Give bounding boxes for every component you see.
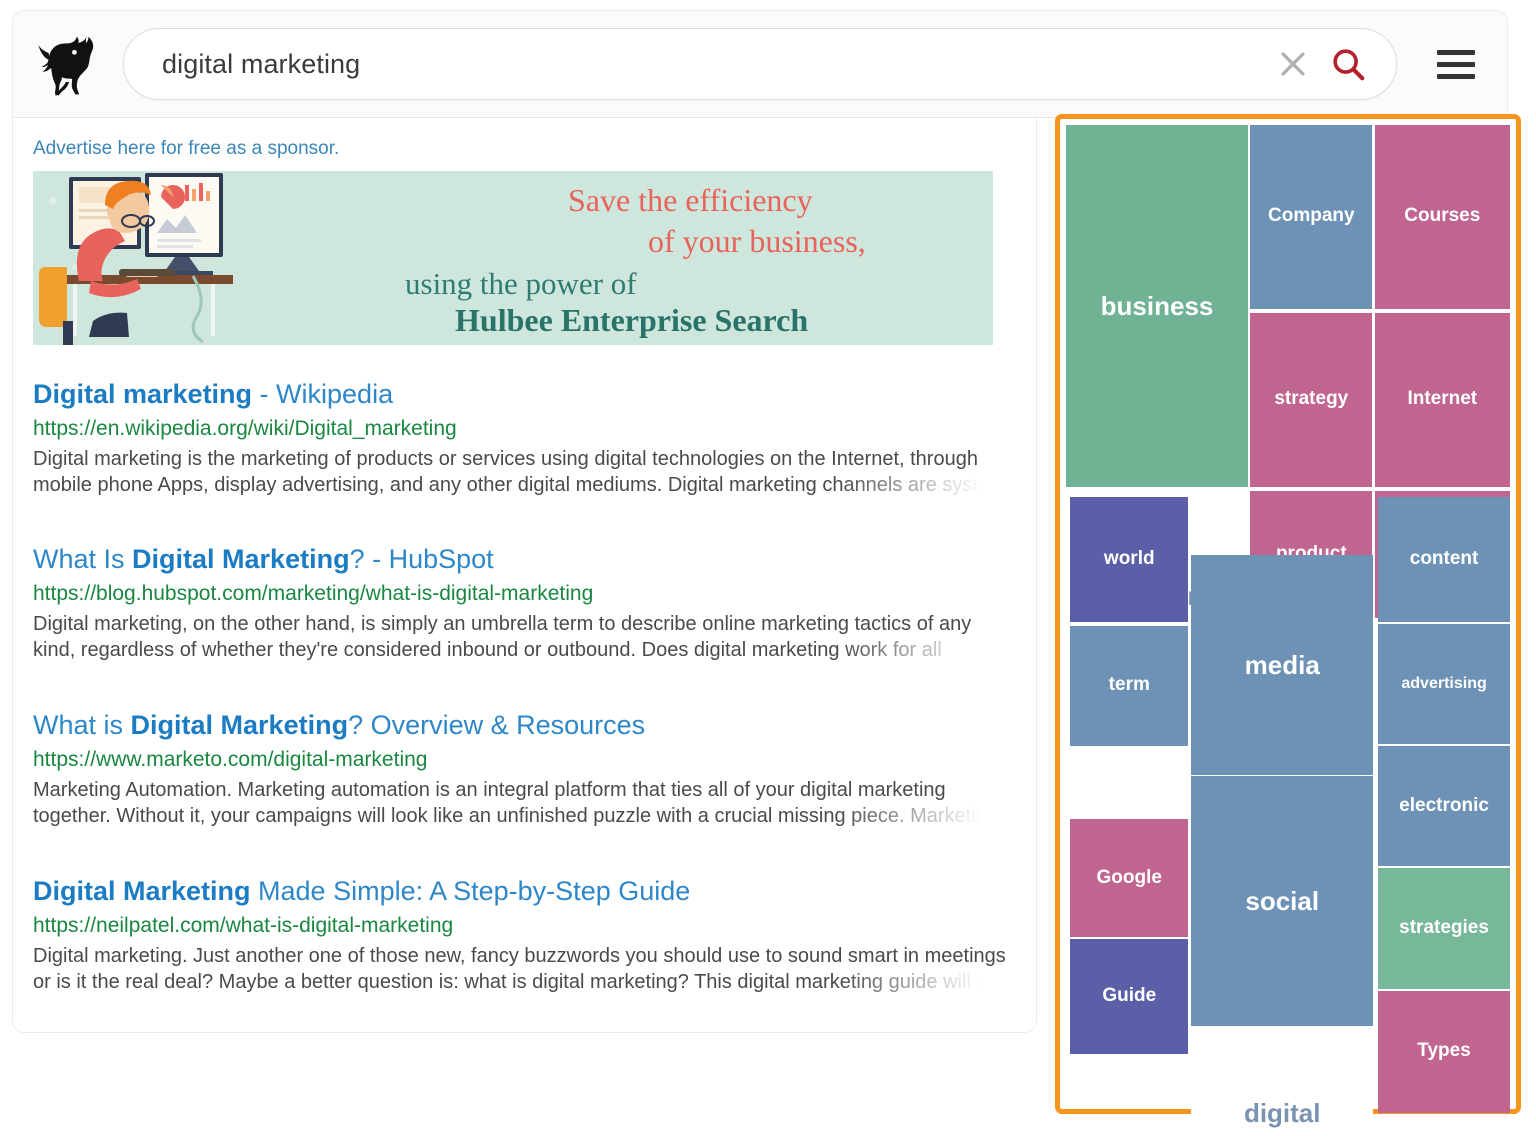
treemap-tile-label: world [1104, 549, 1155, 570]
sponsor-link[interactable]: Advertise here for free as a sponsor. [33, 138, 1036, 160]
menu-bar-1 [1437, 50, 1475, 55]
treemap-tile-label: Types [1417, 1041, 1471, 1062]
treemap-tile-advertising[interactable]: advertising [1378, 624, 1510, 744]
treemap-tile-strategies[interactable]: strategies [1378, 868, 1510, 988]
treemap-tile-label: media [1245, 651, 1320, 680]
treemap-tile-label: Internet [1407, 389, 1477, 410]
treemap-tile-label: Google [1097, 868, 1162, 889]
treemap-tile-label: digital [1244, 1099, 1321, 1128]
ad-line-4: Hulbee Enterprise Search [455, 302, 808, 339]
ad-line-2: of your business, [648, 223, 866, 260]
treemap-tile-guide[interactable]: Guide [1070, 939, 1188, 1054]
treemap-tile-content[interactable]: content [1378, 497, 1510, 622]
result-snippet: Digital marketing. Just another one of t… [33, 943, 1008, 995]
treemap-tile-media[interactable]: media [1191, 555, 1373, 775]
result-title-bold: Digital Marketing [33, 876, 251, 906]
treemap-tile-label: strategies [1399, 918, 1489, 939]
result-title-rest: - Wikipedia [252, 379, 393, 409]
result-url[interactable]: https://neilpatel.com/what-is-digital-ma… [33, 912, 1008, 940]
ad-line-3: using the power of [405, 266, 637, 302]
ad-line-1: Save the efficiency [568, 182, 813, 219]
treemap-tile-label: Company [1268, 206, 1355, 227]
close-icon[interactable] [1270, 41, 1316, 87]
treemap-tile-electronic[interactable]: electronic [1378, 746, 1510, 866]
result-snippet: Digital marketing, on the other hand, is… [33, 611, 1008, 664]
treemap-tile-strategy[interactable]: strategy [1250, 313, 1372, 487]
result-url[interactable]: https://blog.hubspot.com/marketing/what-… [33, 580, 1008, 608]
result-title-rest: Made Simple: A Step-by-Step Guide [251, 876, 691, 906]
treemap-tile-label: strategy [1274, 389, 1348, 410]
search-input[interactable] [124, 49, 1270, 80]
treemap-tile-label: social [1245, 887, 1319, 916]
treemap-tile-label: Courses [1404, 206, 1480, 227]
treemap-tile-types[interactable]: Types [1378, 991, 1510, 1113]
search-result-item: Digital Marketing Made Simple: A Step-by… [33, 874, 1008, 995]
search-bar[interactable] [123, 28, 1397, 100]
result-title-bold: Digital Marketing [131, 710, 349, 740]
treemap-tile-world[interactable]: world [1070, 497, 1188, 622]
person-at-desk-illustration [33, 171, 333, 345]
result-title-link[interactable]: What Is Digital Marketing? - HubSpot [33, 542, 1008, 576]
treemap-tile-label: business [1101, 292, 1214, 321]
page-root: Advertise here for free as a sponsor. [0, 0, 1536, 1136]
result-title-link[interactable]: What is Digital Marketing? Overview & Re… [33, 708, 1008, 742]
ad-copy: Save the efficiency of your business, us… [333, 171, 993, 345]
treemap-tile-label: content [1410, 549, 1479, 570]
treemap-tile-internet[interactable]: Internet [1375, 313, 1510, 487]
treemap-tile-courses[interactable]: Courses [1375, 125, 1510, 309]
search-icon[interactable] [1316, 36, 1380, 92]
menu-bar-2 [1437, 62, 1475, 67]
result-title-bold: Digital Marketing [132, 544, 350, 574]
bull-logo-icon[interactable] [23, 18, 115, 110]
result-title-bold: Digital marketing [33, 379, 252, 409]
treemap-tile-label: electronic [1399, 796, 1489, 817]
result-title-rest: ? - HubSpot [350, 544, 494, 574]
treemap: businessCompanyCoursesstrategyInternetma… [1066, 125, 1510, 1103]
treemap-tile-digital[interactable]: digital [1191, 1028, 1373, 1136]
results-panel: Advertise here for free as a sponsor. [12, 118, 1037, 1033]
search-header [12, 10, 1508, 118]
search-result-item: Digital marketing - Wikipedia https://en… [33, 377, 1008, 498]
sponsored-ad-banner[interactable]: Save the efficiency of your business, us… [33, 171, 993, 345]
result-title-pre: What Is [33, 544, 132, 574]
result-snippet: Digital marketing is the marketing of pr… [33, 446, 1008, 498]
menu-bar-3 [1437, 74, 1475, 79]
treemap-tile-label: advertising [1401, 675, 1486, 693]
result-title-rest: ? Overview & Resources [348, 710, 645, 740]
result-url[interactable]: https://www.marketo.com/digital-marketin… [33, 746, 1008, 774]
related-topics-treemap-panel: businessCompanyCoursesstrategyInternetma… [1055, 114, 1521, 1114]
treemap-tile-label: Guide [1102, 986, 1156, 1007]
result-title-link[interactable]: Digital Marketing Made Simple: A Step-by… [33, 874, 1008, 908]
result-url[interactable]: https://en.wikipedia.org/wiki/Digital_ma… [33, 415, 1008, 443]
search-result-item: What is Digital Marketing? Overview & Re… [33, 708, 1008, 830]
result-title-pre: What is [33, 710, 131, 740]
search-result-item: What Is Digital Marketing? - HubSpot htt… [33, 542, 1008, 664]
treemap-tile-google[interactable]: Google [1070, 819, 1188, 936]
treemap-tile-social[interactable]: social [1191, 776, 1373, 1025]
result-snippet: Marketing Automation. Marketing automati… [33, 777, 1008, 830]
result-title-link[interactable]: Digital marketing - Wikipedia [33, 377, 1008, 411]
treemap-tile-company[interactable]: Company [1250, 125, 1372, 309]
treemap-tile-term[interactable]: term [1070, 626, 1188, 746]
treemap-tile-business[interactable]: business [1066, 125, 1248, 487]
hamburger-menu-icon[interactable] [1421, 29, 1491, 99]
treemap-tile-label: term [1109, 675, 1150, 696]
